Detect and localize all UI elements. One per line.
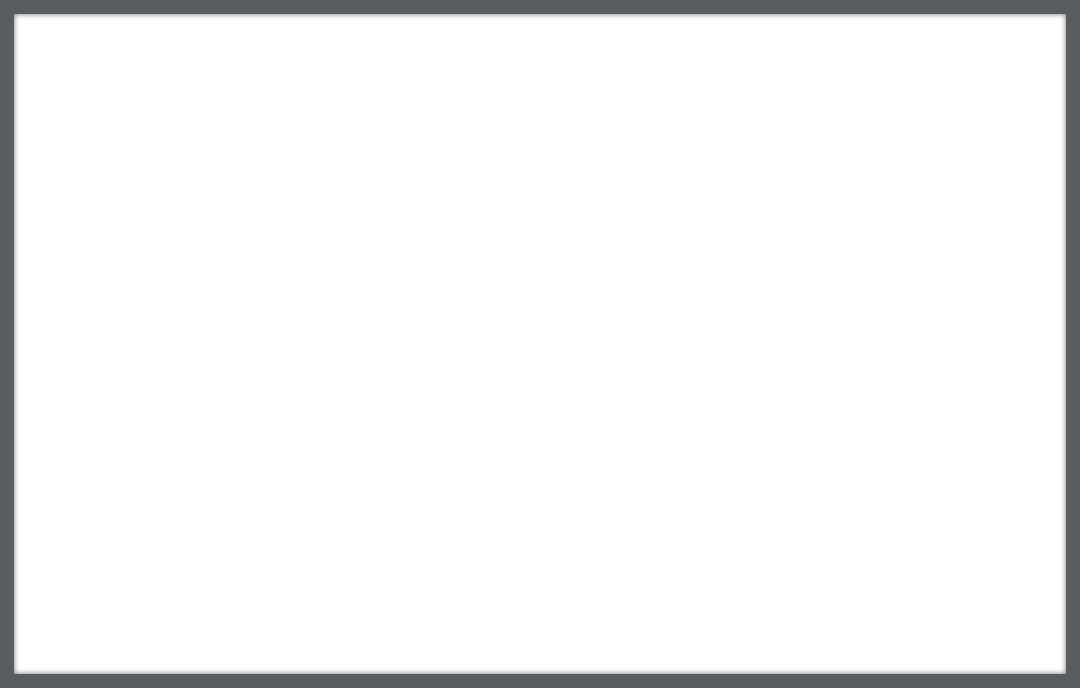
presentation-slide: Fitness and Wellness Whether having your… (0, 0, 1080, 688)
slide-frame (0, 0, 1080, 688)
